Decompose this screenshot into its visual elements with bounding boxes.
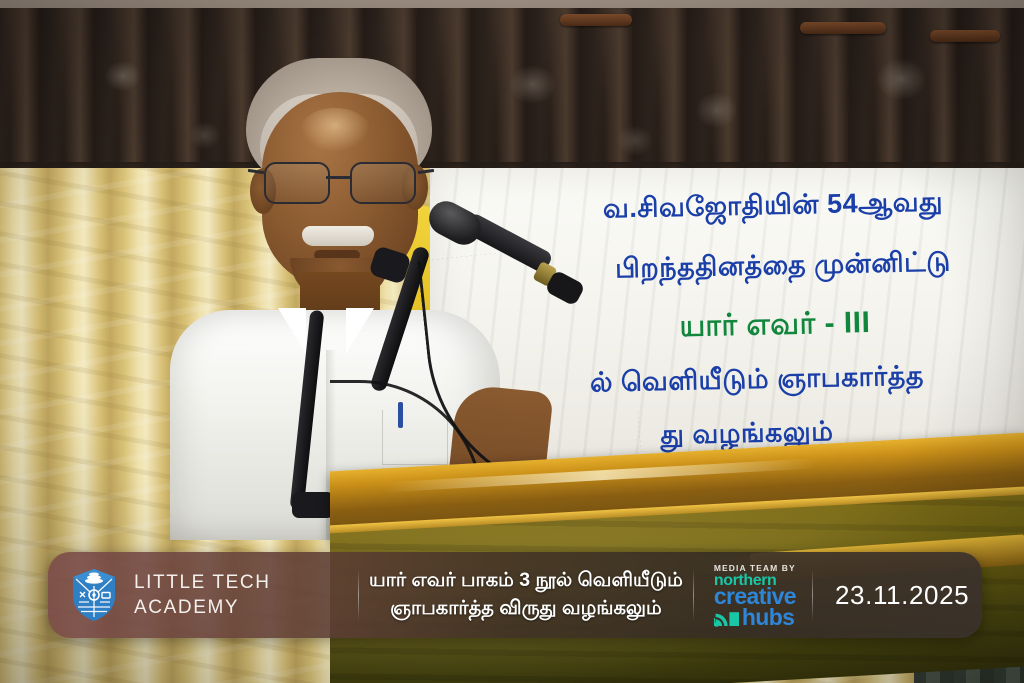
headline-line-1: யார் எவர் பாகம் 3 நூல் வெளியீடும் [369, 567, 683, 595]
northern-creative-hubs-logo: northern creative hubs [714, 574, 796, 628]
speaker-mustache [302, 226, 374, 246]
lens-left [264, 162, 330, 204]
lens-right [350, 162, 416, 204]
curtain-rod-2 [800, 22, 886, 34]
glasses-temple-right [418, 169, 434, 174]
shield-graduation-cap-icon [70, 568, 118, 622]
media-credit-block: MEDIA TEAM BY northern creative hub [694, 563, 812, 628]
shirt-collar-left [278, 308, 306, 354]
eyeglasses [258, 162, 426, 202]
nch-word-hubs: hubs [742, 607, 795, 628]
headline-text: யார் எவர் பாகம் 3 நூல் வெளியீடும் ஞாபகார… [359, 567, 693, 622]
event-date: 23.11.2025 [813, 580, 982, 611]
glasses-bridge [326, 176, 352, 179]
forehead-highlight [300, 108, 370, 152]
shirt-collar-right [346, 308, 374, 354]
wifi-signal-icon [714, 608, 740, 627]
brand-name-line-2: ACADEMY [134, 595, 271, 620]
brand-name-line-1: LITTLE TECH [134, 570, 271, 595]
screenshot-root: வ.சிவஜோதியின் 54ஆவது பிறந்ததினத்தை முன்ன… [0, 0, 1024, 683]
curtain-rod-3 [930, 30, 1000, 42]
nch-hubs-row: hubs [714, 607, 796, 628]
lower-third-bar: LITTLE TECH ACADEMY யார் எவர் பாகம் 3 நூ… [48, 552, 982, 638]
banner-line-1: வ.சிவஜோதியின் 54ஆவது [476, 184, 1024, 231]
curtain-rod-1 [560, 14, 632, 26]
mic-stand-base [292, 492, 334, 518]
headline-line-2: ஞாபகார்த்த விருது வழங்கலும் [369, 595, 683, 623]
brand-block: LITTLE TECH ACADEMY [48, 568, 358, 622]
brand-name: LITTLE TECH ACADEMY [134, 570, 271, 620]
